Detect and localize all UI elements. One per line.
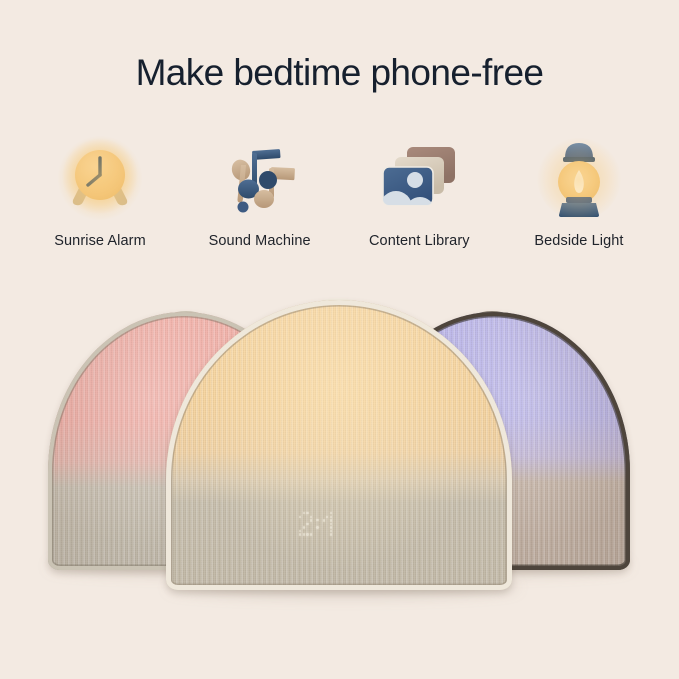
feature-label-bedside-light: Bedside Light [534,233,623,249]
device-center-body [166,300,512,590]
led-colon [316,519,318,529]
device-center-clock-display [299,512,336,536]
feature-sunrise-alarm[interactable]: Sunrise Alarm [24,132,176,249]
led-digit-1 [299,512,312,536]
lantern-icon [533,132,625,224]
music-notes-icon [214,132,306,224]
product-hero-image [0,290,679,590]
feature-label-content-library: Content Library [369,233,470,249]
feature-list: Sunrise Alarm [0,132,679,249]
feature-sound-machine[interactable]: Sound Machine [184,132,336,249]
alarm-clock-icon [54,132,146,224]
product-feature-page: Make bedtime phone-free [0,0,679,679]
stacked-cards-icon [373,132,465,224]
feature-label-sound-machine: Sound Machine [209,233,311,249]
feature-label-sunrise-alarm: Sunrise Alarm [54,233,146,249]
page-title: Make bedtime phone-free [0,52,679,95]
feature-bedside-light[interactable]: Bedside Light [503,132,655,249]
led-digit-2 [323,512,336,536]
device-center-screen [166,300,512,590]
device-center[interactable] [166,300,512,590]
feature-content-library[interactable]: Content Library [343,132,495,249]
